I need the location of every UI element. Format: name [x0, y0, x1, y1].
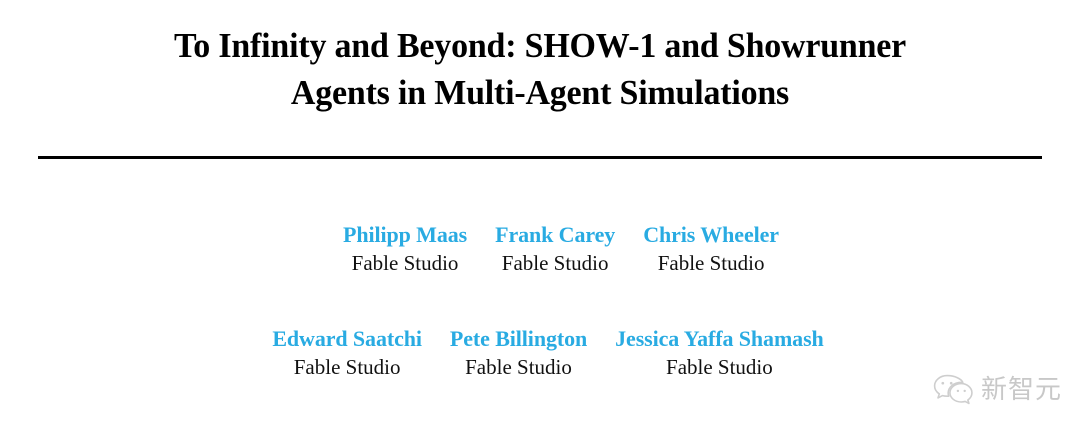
author-name: Chris Wheeler: [643, 222, 779, 248]
paper-header-page: To Infinity and Beyond: SHOW-1 and Showr…: [0, 0, 1080, 435]
author-affiliation: Fable Studio: [343, 250, 467, 276]
author-block: Philipp Maas Fable Studio Frank Carey Fa…: [150, 222, 930, 380]
watermark-text: 新智元: [981, 376, 1062, 404]
title-line-2: Agents in Multi-Agent Simulations: [53, 69, 1027, 116]
author-entry: Jessica Yaffa Shamash Fable Studio: [601, 326, 838, 380]
watermark: 新智元: [932, 373, 1062, 407]
author-affiliation: Fable Studio: [615, 354, 824, 380]
author-entry: Pete Billington Fable Studio: [436, 326, 601, 380]
author-entry: Frank Carey Fable Studio: [481, 222, 629, 276]
author-row: Philipp Maas Fable Studio Frank Carey Fa…: [192, 222, 930, 276]
author-entry: Chris Wheeler Fable Studio: [629, 222, 793, 276]
author-entry: Edward Saatchi Fable Studio: [258, 326, 436, 380]
page-title: To Infinity and Beyond: SHOW-1 and Showr…: [53, 22, 1027, 116]
author-affiliation: Fable Studio: [643, 250, 779, 276]
author-affiliation: Fable Studio: [495, 250, 615, 276]
author-name: Frank Carey: [495, 222, 615, 248]
author-affiliation: Fable Studio: [272, 354, 422, 380]
author-name: Philipp Maas: [343, 222, 467, 248]
author-name: Pete Billington: [450, 326, 587, 352]
author-name: Jessica Yaffa Shamash: [615, 326, 824, 352]
title-divider: [38, 156, 1042, 159]
author-entry: Philipp Maas Fable Studio: [329, 222, 481, 276]
author-name: Edward Saatchi: [272, 326, 422, 352]
title-line-1: To Infinity and Beyond: SHOW-1 and Showr…: [53, 22, 1027, 69]
wechat-icon: [932, 373, 974, 407]
author-row: Edward Saatchi Fable Studio Pete Billing…: [166, 326, 930, 380]
author-affiliation: Fable Studio: [450, 354, 587, 380]
